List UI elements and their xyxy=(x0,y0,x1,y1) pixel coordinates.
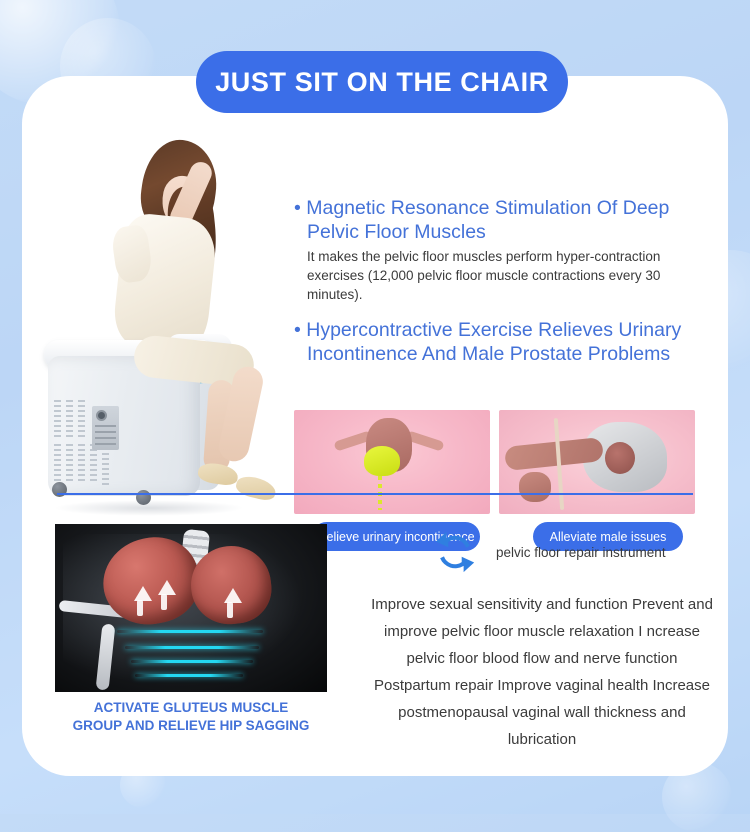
bullet-1-body: It makes the pelvic floor muscles perfor… xyxy=(294,244,714,304)
control-knob[interactable] xyxy=(96,410,107,421)
vent-slot xyxy=(54,400,61,438)
gluteus-muscle-render xyxy=(55,524,327,692)
glute-caption-line-2: GROUP AND RELIEVE HIP SAGGING xyxy=(55,717,327,735)
section-divider xyxy=(57,493,693,495)
lift-arrow-head xyxy=(224,588,242,603)
feature-bullet-2: Hypercontractive Exercise Relieves Urina… xyxy=(294,318,714,366)
glute-caption: ACTIVATE GLUTEUS MUSCLE GROUP AND RELIEV… xyxy=(55,699,327,735)
vent-slot xyxy=(102,448,109,486)
vent-slot xyxy=(66,444,73,482)
bullet-2-heading: Hypercontractive Exercise Relieves Urina… xyxy=(294,318,714,366)
energy-beam xyxy=(117,630,263,633)
control-buttons[interactable] xyxy=(95,425,116,447)
vent-slot xyxy=(78,400,85,438)
vent-slot xyxy=(66,400,73,438)
lift-arrow-head xyxy=(158,580,176,595)
vent-slot xyxy=(54,444,61,482)
header-banner: JUST SIT ON THE CHAIR xyxy=(196,51,568,113)
energy-beam xyxy=(135,674,243,677)
gland-shape xyxy=(519,472,551,502)
bullet-1-heading: Magnetic Resonance Stimulation Of Deep P… xyxy=(294,196,714,244)
energy-beam xyxy=(131,660,253,663)
control-panel[interactable] xyxy=(92,406,119,450)
banner-title: JUST SIT ON THE CHAIR xyxy=(215,67,549,98)
lift-arrow-head xyxy=(134,586,152,601)
feature-text-column: Magnetic Resonance Stimulation Of Deep P… xyxy=(294,196,714,380)
prostate-shape xyxy=(605,442,635,474)
model-shoe xyxy=(234,473,278,502)
benefits-paragraph: Improve sexual sensitivity and function … xyxy=(367,591,717,753)
medical-image-row xyxy=(294,410,712,514)
lift-arrow-stem xyxy=(161,594,167,610)
bottom-section: ACTIVATE GLUTEUS MUSCLE GROUP AND RELIEV… xyxy=(22,511,728,776)
instrument-label: pelvic floor repair instrument xyxy=(496,545,666,560)
content-card: Magnetic Resonance Stimulation Of Deep P… xyxy=(22,76,728,776)
lift-arrow-stem xyxy=(137,600,143,616)
male-prostate-pelvis-illustration xyxy=(499,410,695,514)
top-section: Magnetic Resonance Stimulation Of Deep P… xyxy=(22,124,728,544)
lift-arrow-stem xyxy=(227,602,233,618)
vent-slot xyxy=(78,444,85,482)
glute-caption-line-1: ACTIVATE GLUTEUS MUSCLE xyxy=(55,699,327,717)
feature-bullet-1: Magnetic Resonance Stimulation Of Deep P… xyxy=(294,196,714,304)
instrument-row: pelvic floor repair instrument xyxy=(432,529,666,575)
energy-beam xyxy=(125,646,259,649)
female-bladder-illustration xyxy=(294,410,490,514)
bladder-shape xyxy=(364,446,400,476)
product-photo xyxy=(30,134,298,534)
recycle-arrows-icon xyxy=(432,529,478,575)
